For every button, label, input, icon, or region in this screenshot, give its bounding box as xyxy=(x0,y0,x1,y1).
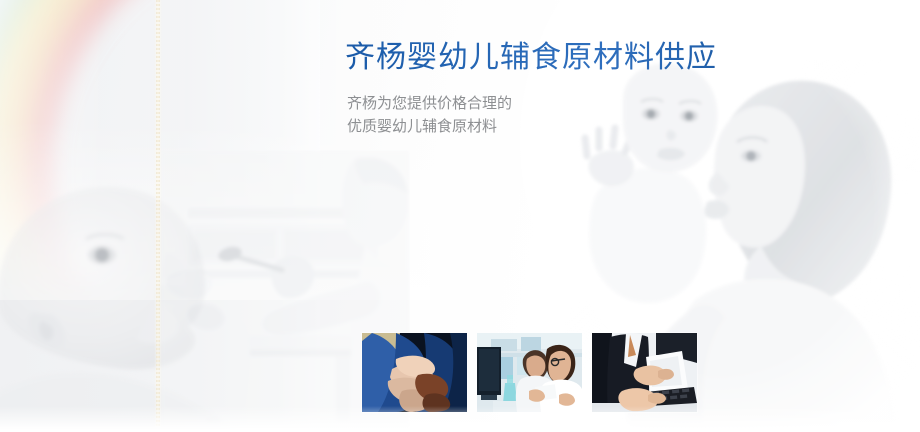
page-title: 齐杨婴幼儿辅食原材料供应 xyxy=(345,39,717,77)
subtitle: 齐杨为您提供价格合理的 优质婴幼儿辅食原材料 xyxy=(347,92,512,138)
vertical-stitched-divider xyxy=(156,0,160,432)
lab-scientists-thumbnail[interactable] xyxy=(477,333,582,412)
office-keyboard-thumbnail[interactable] xyxy=(592,333,697,412)
subtitle-line-2: 优质婴幼儿辅食原材料 xyxy=(347,115,512,138)
thumbnail-strip xyxy=(362,333,697,412)
subtitle-line-1: 齐杨为您提供价格合理的 xyxy=(347,92,512,115)
promo-banner: 齐杨婴幼儿辅食原材料供应 齐杨为您提供价格合理的 优质婴幼儿辅食原材料 xyxy=(0,0,920,432)
teamwork-hands-thumbnail[interactable] xyxy=(362,333,467,412)
